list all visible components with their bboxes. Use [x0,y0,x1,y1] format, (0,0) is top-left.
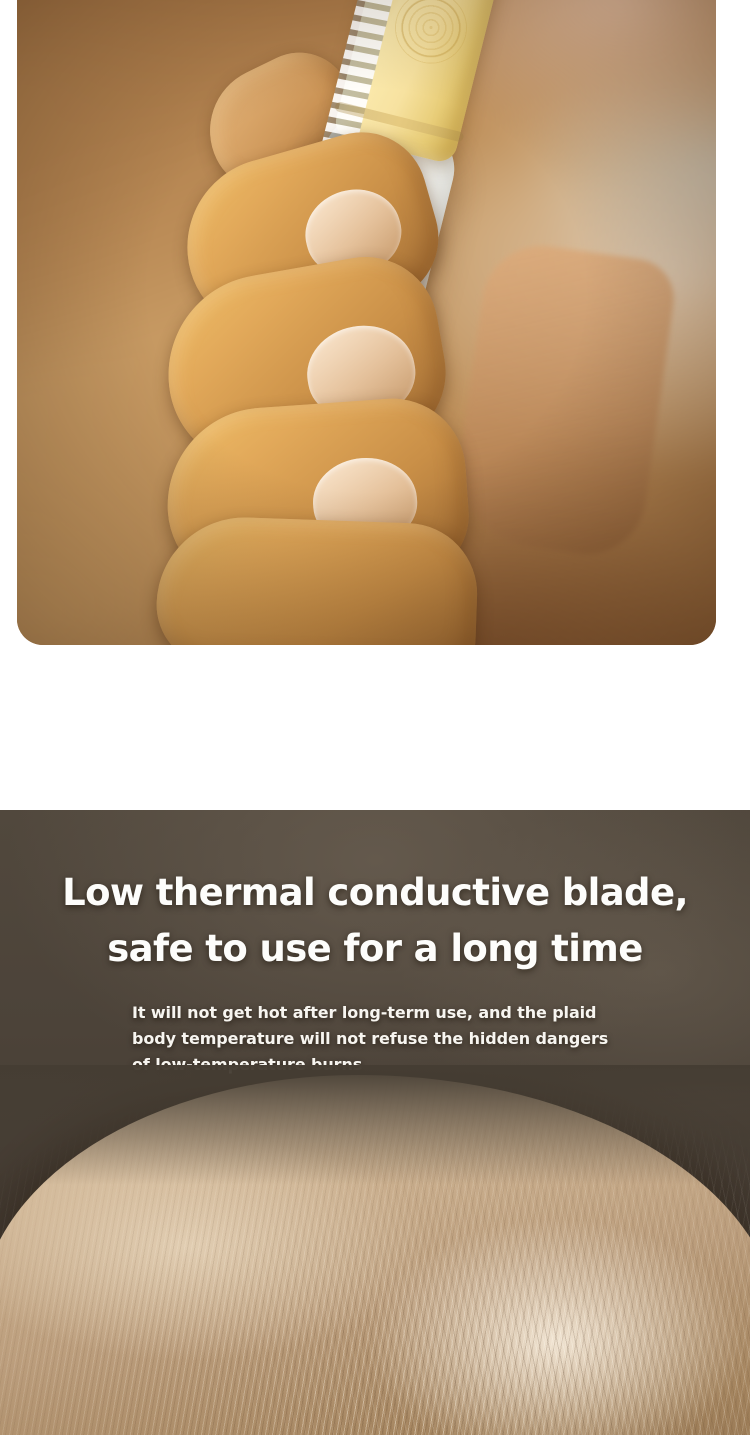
feature-body-line2: body temperature will not refuse the hid… [132,1026,662,1052]
feature-headline-line2: safe to use for a long time [0,921,750,977]
product-detail-page: gb 1 2 3 Goodbaby So [0,0,750,1435]
feature-headline: Low thermal conductive blade, safe to us… [0,865,750,977]
feature-headline-line1: Low thermal conductive blade, [0,865,750,921]
feature-panel: Low thermal conductive blade, safe to us… [0,810,750,1435]
hair-photo-top-fade [0,1065,750,1185]
hero-product-photo: gb 1 2 3 [17,0,716,645]
hero-vignette [17,0,716,645]
brand-band: Goodbaby So Reassuring Good children mak… [0,645,750,810]
baby-hair-photo [0,1065,750,1435]
feature-body-line1: It will not get hot after long-term use,… [132,1000,662,1026]
